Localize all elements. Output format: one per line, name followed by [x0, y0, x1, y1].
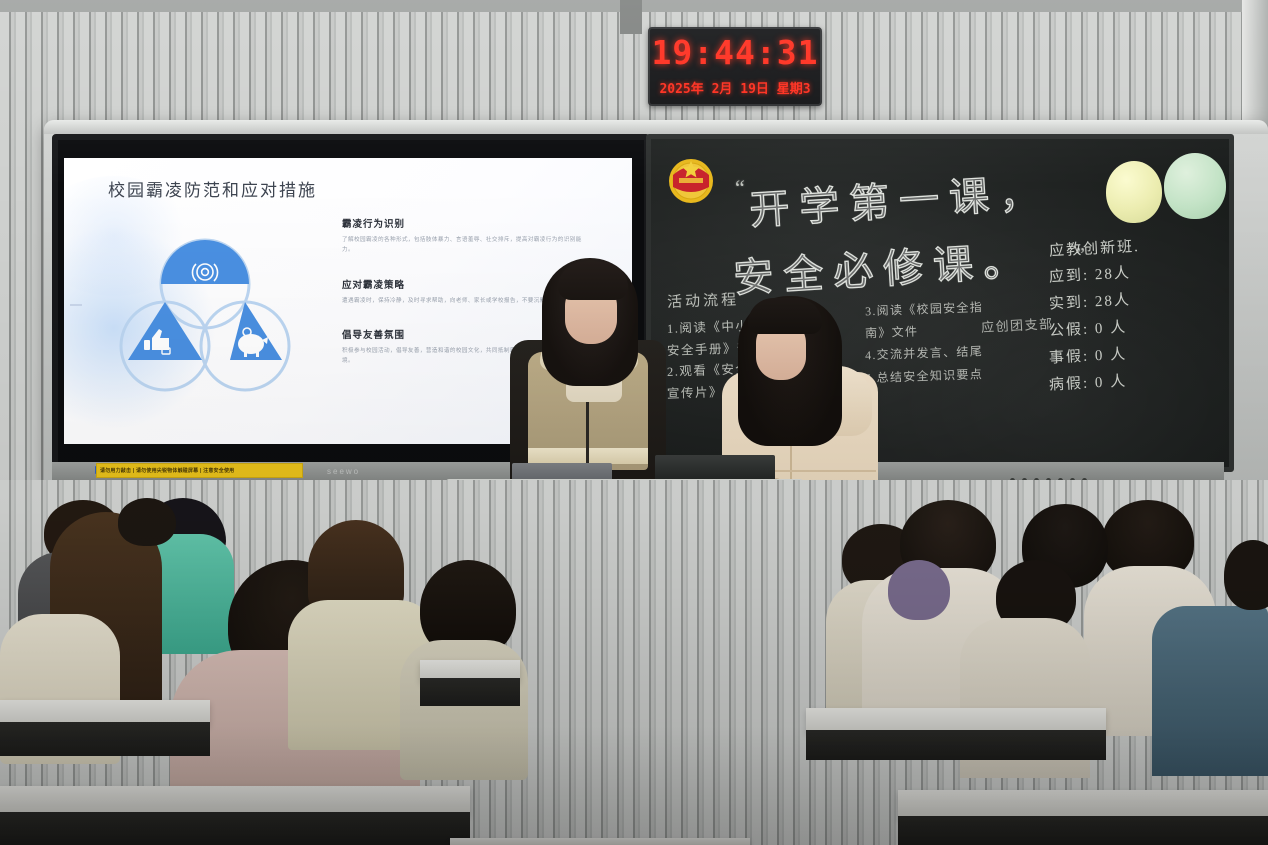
desk-row-2-right	[898, 790, 1268, 819]
chalk-quote-open: “	[735, 175, 745, 201]
slide-block-1: 霸凌行为识别 了解校园霸凌的各种形式，包括肢体暴力、言语羞辱、社交排斥，提高对霸…	[342, 216, 582, 256]
slide-title: 校园霸凌防范和应对措施	[108, 176, 317, 201]
chalk-attendance-column: 应教创新班. 应到: 28人 实到: 28人 公假: 0 人 事假: 0 人 病…	[1049, 235, 1227, 401]
chalk-attendance-value-5: 0 人	[1095, 374, 1128, 392]
chalk-attendance-row-4: 事假: 0 人	[1049, 342, 1228, 366]
desk-front-3	[0, 812, 470, 845]
chalk-title-line-1: 开学第一课，	[748, 160, 1051, 236]
desk-row-2-left	[0, 786, 470, 815]
panel-control-buttons[interactable]	[1010, 470, 1130, 477]
chalk-attendance-value-1: 28人	[1095, 265, 1132, 283]
chalk-org-label: 应创团支部	[981, 313, 1054, 336]
communist-youth-league-emblem-icon	[665, 151, 717, 207]
chalk-attendance-row-2: 实到: 28人	[1049, 288, 1228, 312]
student-head-9	[1224, 540, 1268, 610]
desk-front-2	[420, 678, 520, 706]
slide-block-1-heading: 霸凌行为识别	[342, 216, 582, 230]
chalk-attendance-row-3: 公假: 0 人	[1049, 315, 1228, 339]
chalk-attendance-value-2: 28人	[1095, 292, 1132, 310]
student-head-purple	[888, 560, 950, 620]
chalk-attendance-label-4: 事假	[1049, 349, 1084, 367]
chalk-attendance-row-1: 应到: 28人	[1049, 261, 1228, 285]
desk-front-5	[898, 816, 1268, 845]
desk-front-1	[0, 722, 210, 756]
desk-microphone	[655, 455, 775, 481]
clock-date: 2025年 2月 19日 星期3	[650, 78, 820, 97]
presenter-left-bangs	[558, 262, 628, 300]
chalk-attendance-label-5: 病假	[1049, 376, 1084, 394]
warning-sticker-text: 请勿用力敲击 | 请勿使用尖锐物体触碰屏幕 | 注意安全使用	[97, 464, 302, 474]
student-head-4	[118, 498, 176, 546]
chalk-attendance-label-3: 公假	[1049, 322, 1084, 340]
student-coat-teal	[1152, 606, 1268, 776]
digital-clock: 19:44:31 2025年 2月 19日 星期3	[648, 27, 822, 106]
chalk-class-name: 应教创新班.	[1049, 230, 1228, 260]
three-circle-infographic	[110, 236, 300, 396]
chalk-attendance-label-2: 实到	[1049, 295, 1084, 313]
warning-sticker: 请勿用力敲击 | 请勿使用尖锐物体触碰屏幕 | 注意安全使用	[96, 463, 303, 478]
balloon-yellow	[1106, 161, 1162, 223]
slide-divider	[70, 304, 82, 306]
desk-front-4	[806, 730, 1106, 760]
slide-block-1-body: 了解校园霸凌的各种形式，包括肢体暴力、言语羞辱、社交排斥，提高对霸凌行为的识别能…	[342, 235, 582, 256]
presenter-right-bangs	[748, 298, 822, 334]
chalk-attendance-value-3: 0 人	[1095, 320, 1128, 338]
balloon-green	[1164, 153, 1226, 219]
chalk-attendance-label-1: 应到	[1049, 268, 1084, 286]
chalk-attendance-row-5: 病假: 0 人	[1049, 369, 1228, 393]
chalk-mid-column: 3.阅读《校园安全指 南》文件 4.交流并发言、结尾 5.总结安全知识要点	[865, 297, 1055, 386]
panel-brand-label: seewo	[327, 467, 360, 476]
desk-row-center	[450, 838, 750, 845]
chalk-attendance-value-4: 0 人	[1095, 347, 1128, 365]
wall-vent	[620, 0, 642, 34]
clock-time: 19:44:31	[650, 33, 820, 72]
classroom-scene: 19:44:31 2025年 2月 19日 星期3 校园霸凌防范和应对措施	[0, 0, 1268, 845]
